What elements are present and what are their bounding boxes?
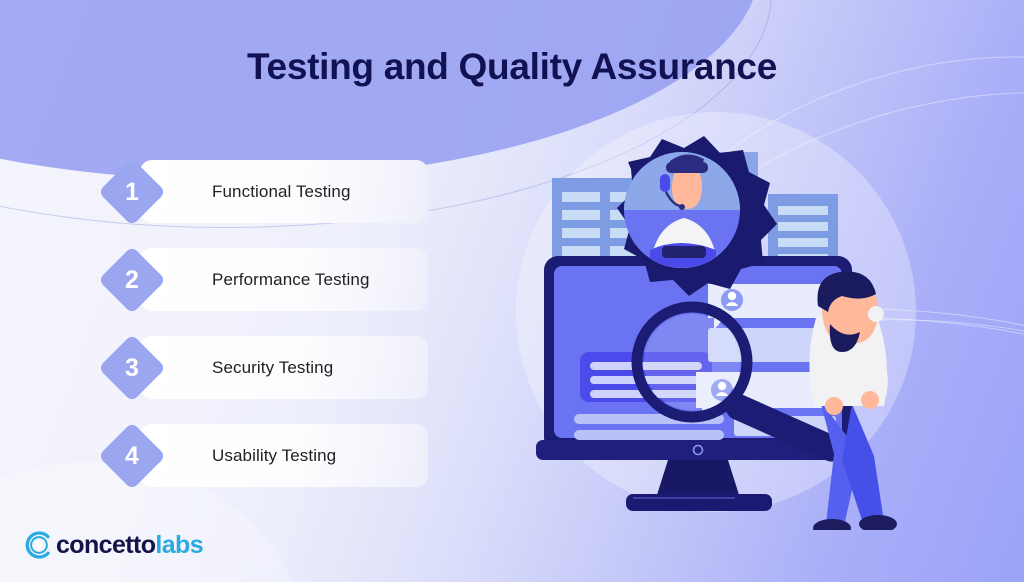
testing-types-list: Functional Testing 1 Performance Testing…	[108, 160, 428, 512]
logo-text-labs: labs	[155, 531, 203, 559]
list-item-card: Usability Testing	[140, 424, 428, 487]
list-item-number: 3	[108, 344, 156, 392]
list-item[interactable]: Functional Testing 1	[108, 160, 428, 223]
list-item-label: Functional Testing	[212, 182, 351, 202]
list-item-card: Functional Testing	[140, 160, 428, 223]
list-item[interactable]: Performance Testing 2	[108, 248, 428, 311]
list-item-card: Performance Testing	[140, 248, 428, 311]
page-title: Testing and Quality Assurance	[0, 46, 1024, 88]
bearded-man-inspecting	[809, 271, 897, 530]
logo-text-concetto: concetto	[56, 531, 155, 559]
list-item[interactable]: Usability Testing 4	[108, 424, 428, 487]
list-item-card: Security Testing	[140, 336, 428, 399]
list-item-label: Security Testing	[212, 358, 333, 378]
list-item-number: 1	[108, 168, 156, 216]
list-item-number: 4	[108, 432, 156, 480]
list-item-number: 2	[108, 256, 156, 304]
qa-testing-illustration	[500, 100, 940, 530]
list-item[interactable]: Security Testing 3	[108, 336, 428, 399]
brand-logo[interactable]: concettolabs	[24, 530, 203, 560]
concetto-circle-lightbulb-icon	[24, 530, 54, 560]
list-item-label: Performance Testing	[212, 270, 370, 290]
slide-canvas: Testing and Quality Assurance Functional…	[0, 0, 1024, 582]
list-item-label: Usability Testing	[212, 446, 336, 466]
logo-wordmark: concettolabs	[56, 533, 203, 558]
